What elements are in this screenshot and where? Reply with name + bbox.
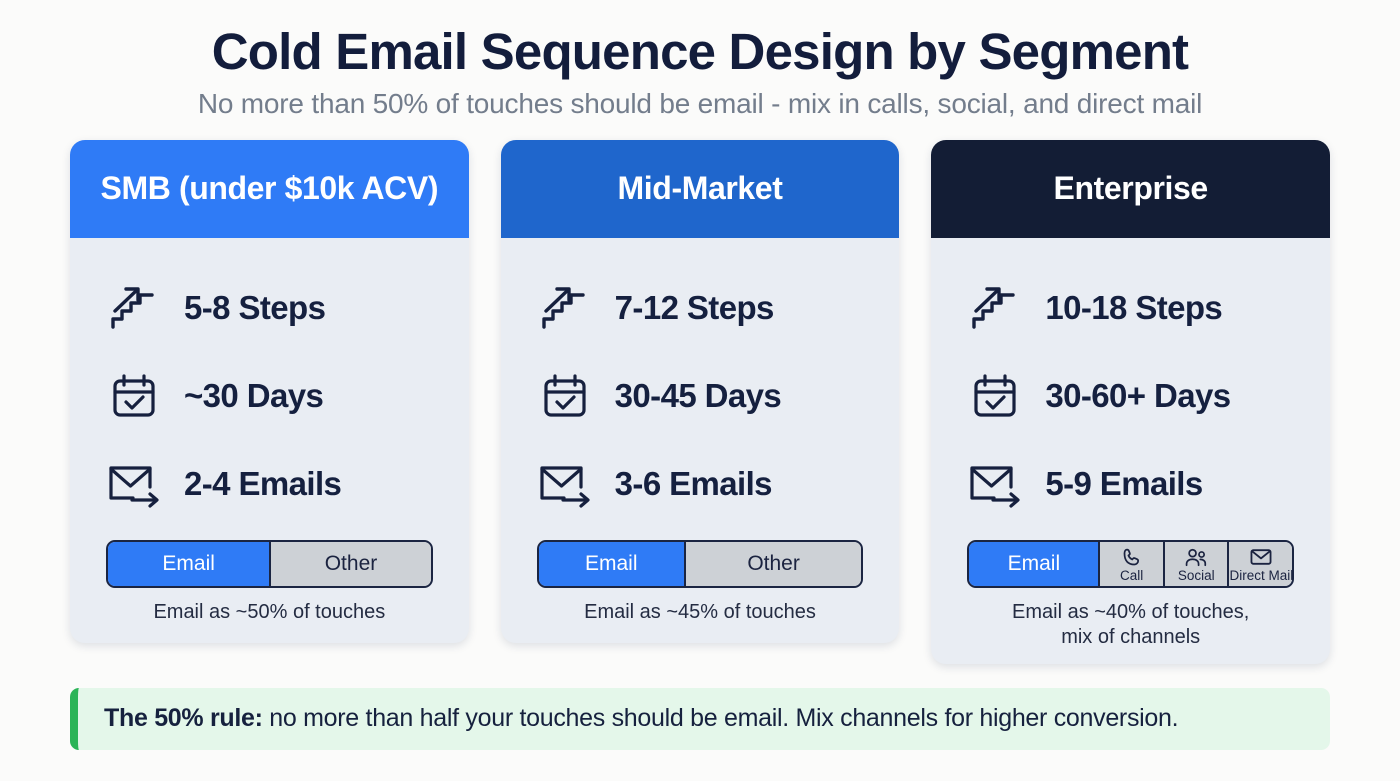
bar-segment-label: Call: [1120, 569, 1143, 583]
envelope-arrow-icon: [537, 456, 593, 512]
bar-segment-email[interactable]: Email: [108, 542, 269, 586]
metric-label: 30-45 Days: [615, 377, 781, 415]
card-title: Mid-Market: [618, 170, 783, 207]
bar-segment-social[interactable]: Social: [1163, 542, 1228, 586]
card-body: 10-18 Steps 30-60+ Days 5-9 EmailsEmail …: [931, 238, 1330, 664]
bar-segment-call[interactable]: Call: [1098, 542, 1163, 586]
metric-row: 3-6 Emails: [537, 440, 864, 528]
metric-label: 5-8 Steps: [184, 289, 325, 327]
calendar-check-icon: [967, 368, 1023, 424]
envelope-arrow-icon: [106, 456, 162, 512]
metric-row: 30-60+ Days: [967, 352, 1294, 440]
card-header: Mid-Market: [501, 140, 900, 238]
segment-card: Mid-Market 7-12 Steps 30-45 Days 3-6 Ema…: [501, 140, 900, 643]
metric-row: 7-12 Steps: [537, 264, 864, 352]
touch-mix-bar-wrap: EmailOtherEmail as ~50% of touches: [106, 540, 433, 639]
infographic-page: Cold Email Sequence Design by Segment No…: [0, 0, 1400, 781]
bar-segment-label: Email: [162, 552, 215, 576]
bar-segment-other[interactable]: Other: [684, 542, 861, 586]
segment-cards: SMB (under $10k ACV) 5-8 Steps ~30 Days …: [70, 140, 1330, 664]
bar-segment-label: Email: [585, 552, 638, 576]
touch-mix-bar: EmailOther: [537, 540, 864, 588]
metric-row: 5-9 Emails: [967, 440, 1294, 528]
bar-segment-other[interactable]: Other: [269, 542, 430, 586]
metric-label: 5-9 Emails: [1045, 465, 1202, 503]
metric-row: ~30 Days: [106, 352, 433, 440]
callout-text: The 50% rule: no more than half your tou…: [104, 704, 1178, 733]
metric-label: ~30 Days: [184, 377, 323, 415]
bar-caption: Email as ~40% of touches,mix of channels: [967, 600, 1294, 664]
metric-row: 2-4 Emails: [106, 440, 433, 528]
touch-mix-bar: EmailOther: [106, 540, 433, 588]
card-body: 5-8 Steps ~30 Days 2-4 EmailsEmailOtherE…: [70, 238, 469, 643]
header: Cold Email Sequence Design by Segment No…: [70, 22, 1330, 123]
metric-row: 10-18 Steps: [967, 264, 1294, 352]
stairs-up-arrow-icon: [537, 280, 593, 336]
segment-card: SMB (under $10k ACV) 5-8 Steps ~30 Days …: [70, 140, 469, 643]
bar-segment-label: Other: [325, 552, 378, 576]
envelope-arrow-icon: [967, 456, 1023, 512]
bar-caption: Email as ~50% of touches: [106, 600, 433, 639]
callout-rest-label: no more than half your touches should be…: [263, 704, 1179, 732]
stairs-up-arrow-icon: [106, 280, 162, 336]
mail-icon: [1249, 546, 1273, 568]
bar-caption: Email as ~45% of touches: [537, 600, 864, 639]
bar-caption-line: Email as ~40% of touches,: [967, 600, 1294, 625]
bar-segment-label: Social: [1178, 569, 1215, 583]
metric-label: 30-60+ Days: [1045, 377, 1230, 415]
bar-segment-direct-mail[interactable]: Direct Mail: [1227, 542, 1293, 586]
card-header: Enterprise: [931, 140, 1330, 238]
card-title: SMB (under $10k ACV): [101, 170, 439, 207]
card-body: 7-12 Steps 30-45 Days 3-6 EmailsEmailOth…: [501, 238, 900, 643]
metric-label: 2-4 Emails: [184, 465, 341, 503]
bar-caption-line: Email as ~45% of touches: [584, 601, 816, 623]
bar-segment-email[interactable]: Email: [539, 542, 684, 586]
people-icon: [1184, 546, 1208, 568]
touch-mix-bar-wrap: Email Call Social Direct MailEmail as ~4…: [967, 540, 1294, 664]
callout-banner: The 50% rule: no more than half your tou…: [70, 688, 1330, 750]
stairs-up-arrow-icon: [967, 280, 1023, 336]
touch-mix-bar-wrap: EmailOtherEmail as ~45% of touches: [537, 540, 864, 639]
metric-row: 5-8 Steps: [106, 264, 433, 352]
bar-segment-label: Email: [1008, 552, 1061, 576]
metric-label: 7-12 Steps: [615, 289, 774, 327]
touch-mix-bar: Email Call Social Direct Mail: [967, 540, 1294, 588]
card-header: SMB (under $10k ACV): [70, 140, 469, 238]
card-title: Enterprise: [1054, 170, 1208, 207]
page-title: Cold Email Sequence Design by Segment: [70, 22, 1330, 82]
metric-label: 3-6 Emails: [615, 465, 772, 503]
page-subtitle: No more than 50% of touches should be em…: [70, 86, 1330, 122]
bar-caption-line: mix of channels: [967, 625, 1294, 650]
metric-label: 10-18 Steps: [1045, 289, 1222, 327]
bar-segment-email[interactable]: Email: [969, 542, 1098, 586]
calendar-check-icon: [106, 368, 162, 424]
callout-bold-label: The 50% rule:: [104, 704, 263, 732]
metric-row: 30-45 Days: [537, 352, 864, 440]
bar-segment-label: Other: [747, 552, 800, 576]
bar-caption-line: Email as ~50% of touches: [153, 601, 385, 623]
calendar-check-icon: [537, 368, 593, 424]
bar-segment-label: Direct Mail: [1229, 569, 1293, 583]
phone-icon: [1121, 546, 1142, 568]
segment-card: Enterprise 10-18 Steps 30-60+ Days 5-9 E…: [931, 140, 1330, 664]
